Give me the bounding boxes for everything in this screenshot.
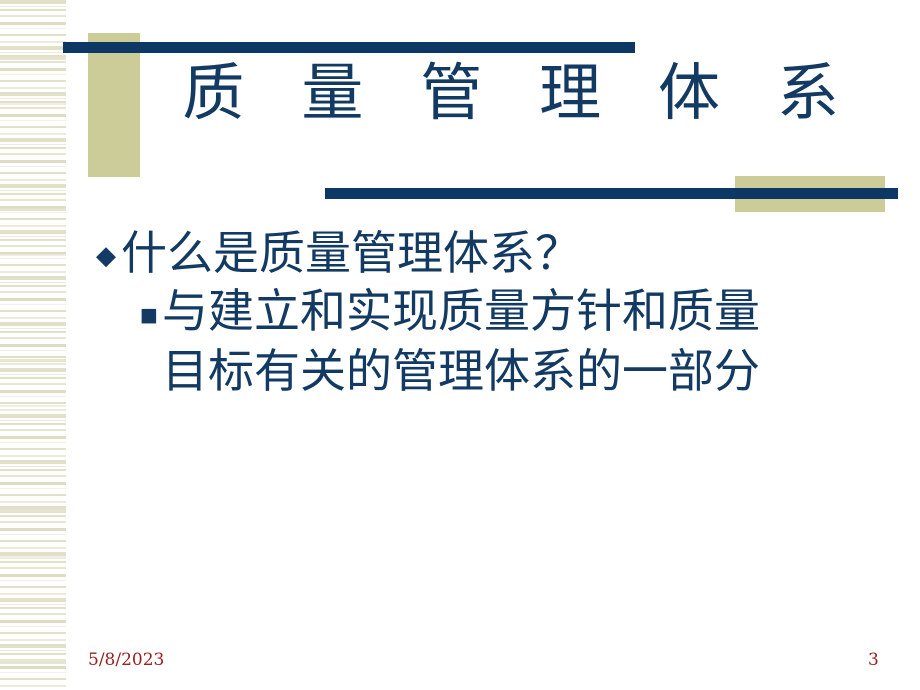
title-rule-bottom bbox=[325, 188, 898, 199]
slide-title: 质 量 管 理 体 系 bbox=[150, 60, 890, 125]
bullet-level2: ■ 与建立和实现质量方针和质量目标有关的管理体系的一部分 bbox=[140, 282, 896, 402]
bullet-level1: ◆ 什么是质量管理体系？ bbox=[96, 226, 896, 280]
slide-body: ◆ 什么是质量管理体系？ ■ 与建立和实现质量方针和质量目标有关的管理体系的一部… bbox=[96, 226, 896, 402]
footer-page-number: 3 bbox=[868, 650, 879, 670]
bullet-level1-text: 什么是质量管理体系？ bbox=[121, 226, 896, 280]
footer-date: 5/8/2023 bbox=[88, 650, 164, 670]
square-bullet-icon: ■ bbox=[140, 306, 158, 325]
stripe-overlay bbox=[0, 0, 66, 690]
left-striped-decoration bbox=[0, 0, 66, 690]
diamond-bullet-icon: ◆ bbox=[96, 243, 116, 269]
presentation-slide: 质 量 管 理 体 系 ◆ 什么是质量管理体系？ ■ 与建立和实现质量方针和质量… bbox=[0, 0, 920, 690]
title-rule-top bbox=[63, 42, 635, 53]
title-accent-block-left bbox=[88, 33, 140, 177]
bullet-level2-text: 与建立和实现质量方针和质量目标有关的管理体系的一部分 bbox=[162, 282, 802, 402]
